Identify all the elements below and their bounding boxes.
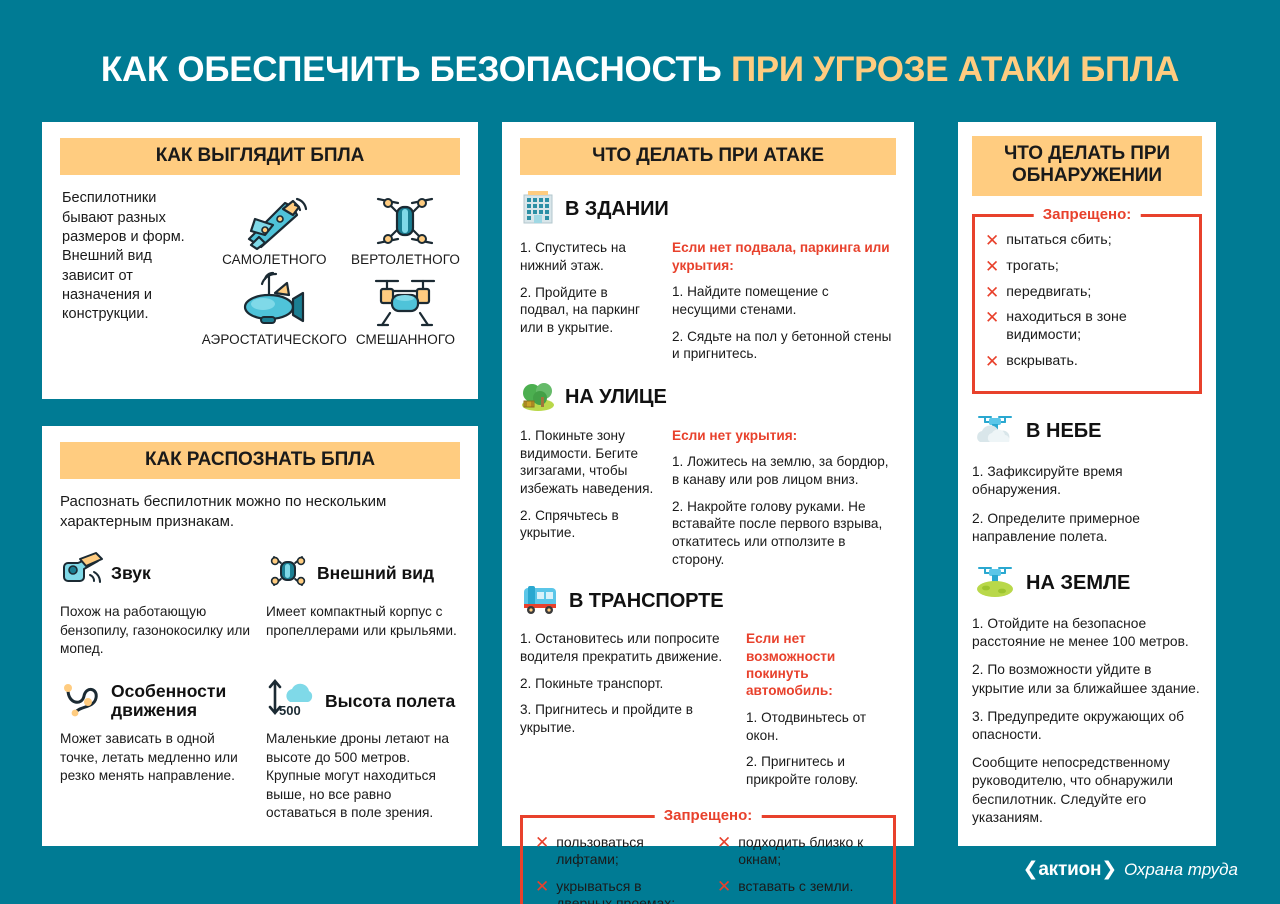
section-right-steps: Если нет возможности покинуть автомобиль… — [746, 630, 896, 788]
drone-type-item: АЭРОСТАТИЧЕСКОГО — [202, 269, 347, 347]
section-title: В НЕБЕ — [1026, 420, 1102, 443]
step: 1. Зафиксируйте время обнаружения. — [972, 463, 1202, 499]
cross-icon: ✕ — [985, 353, 999, 371]
forbidden-item: ✕ подходить близко к окнам; — [717, 834, 881, 869]
drone-in-cloud-icon — [972, 410, 1018, 453]
section-left-steps: 1. Остановитесь или попросите водителя п… — [520, 630, 734, 788]
section-title: НА УЛИЦЕ — [565, 386, 667, 409]
conditional-heading: Если нет возможности покинуть автомобиль… — [746, 630, 896, 700]
altitude-value: 500 — [279, 703, 301, 718]
drone-type-grid: САМОЛЕТНОГО — [202, 189, 460, 347]
forbidden-item: ✕ вставать с земли. — [717, 878, 881, 896]
forbidden-item: ✕ находиться в зоне видимости; — [985, 309, 1189, 345]
title-part-orange: ПРИ УГРОЗЕ АТАКИ БПЛА — [731, 50, 1179, 89]
feature-text: Похож на работающую бензопилу, газонокос… — [60, 603, 256, 658]
card-on-detection: ЧТО ДЕЛАТЬ ПРИ ОБНАРУЖЕНИИ Запрещено: ✕ … — [958, 122, 1216, 846]
step: 2. По возможности уйдите в укрытие или з… — [972, 661, 1202, 697]
card-how-to-recognise: КАК РАСПОЗНАТЬ БПЛА Распознать беспилотн… — [42, 426, 478, 846]
step: 1. Найдите помещение с несущими стенами. — [672, 283, 896, 318]
step: 3. Пригнитесь и пройдите в укрытие. — [520, 701, 734, 736]
feature-title: Звук — [111, 564, 151, 583]
forbidden-text: вставать с земли. — [738, 878, 853, 896]
brand-subtitle: Охрана труда — [1124, 860, 1238, 880]
section-title: НА ЗЕМЛЕ — [1026, 572, 1130, 595]
closing-note: Сообщите непосредственному руководителю,… — [972, 754, 1202, 827]
section-on-street: НА УЛИЦЕ 1. Покиньте зону видимости. Бег… — [520, 377, 896, 568]
footer-branding: ❮актион❯ Охрана труда — [1023, 858, 1238, 881]
step: 3. Предупредите окружающих об опасности. — [972, 708, 1202, 744]
card-how-it-looks-heading: КАК ВЫГЛЯДИТ БПЛА — [60, 138, 460, 175]
tree-bench-icon — [520, 377, 556, 418]
conditional-heading: Если нет укрытия: — [672, 427, 896, 444]
feature-text: Имеет компактный корпус с пропеллерами и… — [266, 603, 460, 640]
cross-icon: ✕ — [535, 878, 549, 896]
feature-text: Может зависать в одной точке, летать мед… — [60, 730, 256, 785]
forbidden-title: Запрещено: — [655, 807, 762, 824]
quadcopter-drone-icon — [351, 189, 460, 251]
conditional-heading: Если нет подвала, паркинга или укрытия: — [672, 239, 896, 274]
section-title: В ТРАНСПОРТЕ — [569, 590, 724, 613]
forbidden-text: передвигать; — [1006, 284, 1091, 302]
page-title: КАК ОБЕСПЕЧИТЬ БЕЗОПАСНОСТЬ ПРИ УГРОЗЕ А… — [0, 52, 1280, 89]
forbidden-item: ✕ передвигать; — [985, 284, 1189, 302]
feature-title: Внешний вид — [317, 564, 434, 583]
cross-icon: ✕ — [985, 284, 999, 302]
drone-type-label: ВЕРТОЛЕТНОГО — [351, 252, 460, 267]
feature-title: Высота полета — [325, 692, 455, 711]
airplane-drone-icon — [222, 189, 327, 251]
forbidden-text: подходить близко к окнам; — [738, 834, 881, 869]
step: 2. Сядьте на пол у бетонной стены и приг… — [672, 328, 896, 363]
how-it-looks-intro: Беспилотники бывают разных размеров и фо… — [60, 189, 202, 347]
section-title: В ЗДАНИИ — [565, 198, 669, 221]
recognition-features: Звук Похож на работающую бензопилу, газо… — [60, 551, 460, 822]
infographic-poster: КАК ОБЕСПЕЧИТЬ БЕЗОПАСНОСТЬ ПРИ УГРОЗЕ А… — [0, 0, 1280, 904]
step: 2. Покиньте транспорт. — [520, 675, 734, 693]
card-how-it-looks: КАК ВЫГЛЯДИТ БПЛА Беспилотники бывают ра… — [42, 122, 478, 399]
forbidden-title: Запрещено: — [1034, 206, 1141, 223]
feature-altitude: 500 Высота полета Маленькие дроны летают… — [266, 678, 460, 822]
feature-title: Особенности движения — [111, 682, 256, 720]
feature-motion: Особенности движения Может зависать в од… — [60, 678, 256, 822]
card-during-attack: ЧТО ДЕЛАТЬ ПРИ АТАКЕ — [502, 122, 914, 846]
section-right-steps: Если нет укрытия: 1. Ложитесь на землю, … — [672, 427, 896, 568]
drone-type-label: СМЕШАННОГО — [356, 332, 455, 347]
card-on-detection-heading: ЧТО ДЕЛАТЬ ПРИ ОБНАРУЖЕНИИ — [972, 136, 1202, 196]
step: 1. Отодвиньтесь от окон. — [746, 709, 896, 744]
card-how-to-recognise-heading: КАК РАСПОЗНАТЬ БПЛА — [60, 442, 460, 479]
cross-icon: ✕ — [985, 309, 999, 327]
brand-logo: ❮актион❯ — [1023, 858, 1117, 881]
drone-type-item: ВЕРТОЛЕТНОГО — [351, 189, 460, 267]
forbidden-text: пытаться сбить; — [1006, 232, 1111, 250]
hybrid-drone-icon — [356, 269, 455, 331]
step: 1. Спуститесь на нижний этаж. — [520, 239, 660, 274]
section-on-ground: НА ЗЕМЛЕ 1. Отойдите на безопасное расст… — [972, 562, 1202, 827]
forbidden-item: ✕ трогать; — [985, 258, 1189, 276]
altitude-cloud-icon: 500 — [266, 678, 318, 723]
cross-icon: ✕ — [717, 878, 731, 896]
step: 1. Отойдите на безопасное расстояние не … — [972, 615, 1202, 651]
drone-on-ground-icon — [972, 562, 1018, 605]
step: 1. Ложитесь на землю, за бордюр, в канав… — [672, 453, 896, 488]
step: 1. Остановитесь или попросите водителя п… — [520, 630, 734, 665]
section-left-steps: 1. Покиньте зону видимости. Бегите зигза… — [520, 427, 660, 568]
forbidden-text: пользоваться лифтами; — [556, 834, 699, 869]
chainsaw-icon — [60, 551, 104, 596]
section-right-steps: Если нет подвала, паркинга или укрытия: … — [672, 239, 896, 362]
feature-appearance: Внешний вид Имеет компактный корпус с пр… — [266, 551, 460, 658]
forbidden-item: ✕ укрываться в дверных проемах; — [535, 878, 699, 904]
feature-text: Маленькие дроны летают на высоте до 500 … — [266, 730, 460, 822]
drone-type-item: СМЕШАННОГО — [356, 269, 455, 347]
forbidden-text: укрываться в дверных проемах; — [556, 878, 699, 904]
card-during-attack-heading: ЧТО ДЕЛАТЬ ПРИ АТАКЕ — [520, 138, 896, 175]
forbidden-item: ✕ пытаться сбить; — [985, 232, 1189, 250]
drone-type-item: САМОЛЕТНОГО — [222, 189, 327, 267]
step: 2. Пройдите в подвал, на паркинг или в у… — [520, 284, 660, 337]
cross-icon: ✕ — [985, 258, 999, 276]
forbidden-item: ✕ пользоваться лифтами; — [535, 834, 699, 869]
section-in-transport: В ТРАНСПОРТЕ 1. Остановитесь или попроси… — [520, 582, 896, 788]
forbidden-text: вскрывать. — [1006, 353, 1078, 371]
cross-icon: ✕ — [717, 834, 731, 852]
building-icon — [520, 189, 556, 230]
forbidden-text: находиться в зоне видимости; — [1006, 309, 1189, 345]
forbidden-item: ✕ вскрывать. — [985, 353, 1189, 371]
section-in-building: В ЗДАНИИ 1. Спуститесь на нижний этаж. 2… — [520, 189, 896, 362]
motion-path-icon — [60, 678, 104, 723]
drone-type-label: САМОЛЕТНОГО — [222, 252, 327, 267]
step: 1. Покиньте зону видимости. Бегите зигза… — [520, 427, 660, 498]
bus-icon — [520, 582, 560, 621]
cross-icon: ✕ — [535, 834, 549, 852]
section-left-steps: 1. Спуститесь на нижний этаж. 2. Пройдит… — [520, 239, 660, 362]
step: 2. Определите примерное направление поле… — [972, 510, 1202, 546]
step: 2. Накройте голову руками. Не вставайте … — [672, 498, 896, 569]
drone-appearance-icon — [266, 551, 310, 596]
forbidden-box-attack: Запрещено: ✕ пользоваться лифтами; ✕ укр… — [520, 815, 896, 904]
section-in-sky: В НЕБЕ 1. Зафиксируйте время обнаружения… — [972, 410, 1202, 546]
forbidden-box-detection: Запрещено: ✕ пытаться сбить; ✕ трогать; … — [972, 214, 1202, 394]
drone-type-label: АЭРОСТАТИЧЕСКОГО — [202, 332, 347, 347]
forbidden-text: трогать; — [1006, 258, 1059, 276]
feature-sound: Звук Похож на работающую бензопилу, газо… — [60, 551, 256, 658]
cross-icon: ✕ — [985, 232, 999, 250]
recognise-intro: Распознать беспилотник можно по нескольк… — [60, 492, 460, 531]
step: 2. Пригнитесь и прикройте голову. — [746, 753, 896, 788]
airship-drone-icon — [202, 269, 347, 331]
title-part-white: КАК ОБЕСПЕЧИТЬ БЕЗОПАСНОСТЬ — [101, 50, 722, 89]
step: 2. Спрячьтесь в укрытие. — [520, 507, 660, 542]
